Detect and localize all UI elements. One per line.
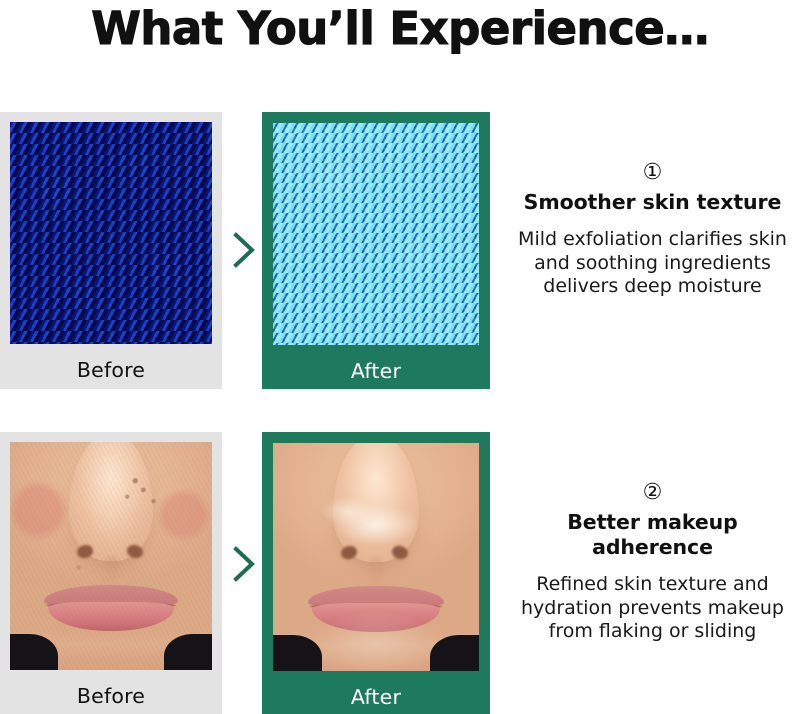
after-caption: After — [273, 671, 479, 709]
after-photo-face — [273, 443, 479, 671]
feature-block-1: ① Smoother skin texture Mild exfoliation… — [505, 160, 800, 299]
after-photo-uv-texture — [273, 123, 479, 345]
feature-number-badge: ① — [505, 160, 800, 186]
before-panel-1: Before — [0, 112, 222, 389]
before-panel-2: Before — [0, 432, 222, 714]
before-photo-uv-texture — [10, 122, 212, 344]
before-photo-face — [10, 442, 212, 670]
after-panel-2: After — [262, 432, 490, 714]
feature-body: Mild exfoliation clarifies skin and soot… — [505, 228, 800, 299]
feature-heading: Smoother skin texture — [505, 190, 800, 215]
page-title: What You’ll Experience… — [0, 2, 800, 56]
chevron-right-icon — [230, 544, 258, 584]
feature-body: Refined skin texture and hydration preve… — [505, 573, 800, 644]
feature-number-badge: ② — [505, 480, 800, 506]
after-panel-1: After — [262, 112, 490, 389]
chevron-right-icon — [230, 230, 258, 270]
before-caption: Before — [10, 344, 212, 382]
before-caption: Before — [10, 670, 212, 708]
feature-block-2: ② Better makeup adherence Refined skin t… — [505, 480, 800, 644]
feature-heading: Better makeup adherence — [505, 510, 800, 560]
after-caption: After — [273, 345, 479, 383]
